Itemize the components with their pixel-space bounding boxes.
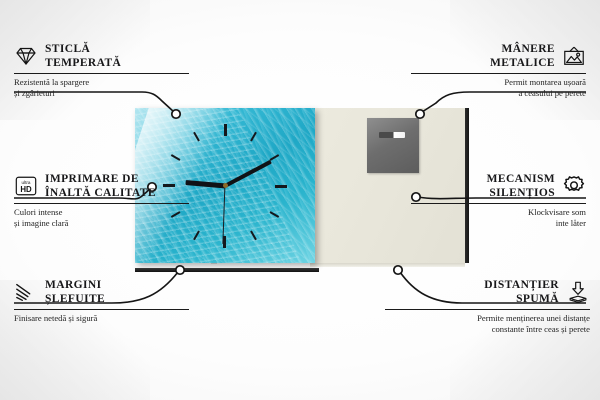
callout-title: MARGINI ȘLEFUITE bbox=[45, 278, 105, 306]
callout-rule bbox=[411, 73, 586, 74]
callout-foam-spacer: DISTANȚIER SPUMĂ Permite menținerea unei… bbox=[385, 278, 590, 336]
callout-description: Permit montarea ușoară a ceasului pe per… bbox=[411, 77, 586, 100]
callout-rule bbox=[14, 73, 189, 74]
gear-icon bbox=[562, 175, 586, 197]
svg-text:HD: HD bbox=[20, 185, 32, 194]
callout-title: STICLĂ TEMPERATĂ bbox=[45, 42, 121, 70]
clock-tick bbox=[225, 185, 287, 187]
callout-rule bbox=[14, 309, 189, 310]
callout-description: Finisare netedă și sigură bbox=[14, 313, 189, 324]
callout-title: DISTANȚIER SPUMĂ bbox=[484, 278, 559, 306]
callout-title: MECANISM SILENȚIOS bbox=[487, 172, 555, 200]
callout-header: MARGINI ȘLEFUITE bbox=[14, 278, 189, 306]
callout-rule bbox=[385, 309, 590, 310]
diamond-icon bbox=[14, 45, 38, 67]
callout-metal-handles: MÂNERE METALICE Permit montarea ușoară a… bbox=[411, 42, 586, 100]
callout-header: ultra HD IMPRIMARE DE ÎNALTĂ CALITATE bbox=[14, 172, 189, 200]
callout-tempered-glass: STICLĂ TEMPERATĂ Rezistentă la spargere … bbox=[14, 42, 189, 100]
callout-header: DISTANȚIER SPUMĂ bbox=[385, 278, 590, 306]
callout-description: Rezistentă la spargere și zgârieturi bbox=[14, 77, 189, 100]
callout-rule bbox=[14, 203, 189, 204]
picture-frame-icon bbox=[562, 45, 586, 67]
callout-description: Culori intense și imagine clară bbox=[14, 207, 189, 230]
clock-tick bbox=[224, 124, 226, 186]
down-arrow-layer-icon bbox=[566, 281, 590, 303]
callout-title: MÂNERE METALICE bbox=[490, 42, 555, 70]
callout-header: STICLĂ TEMPERATĂ bbox=[14, 42, 189, 70]
infographic-canvas: STICLĂ TEMPERATĂ Rezistentă la spargere … bbox=[0, 0, 600, 400]
metal-hanger-plate bbox=[367, 118, 419, 173]
hanger-slot bbox=[379, 132, 405, 138]
callout-title: IMPRIMARE DE ÎNALTĂ CALITATE bbox=[45, 172, 156, 200]
clock-center-cap bbox=[223, 183, 228, 188]
callout-polished-edges: MARGINI ȘLEFUITE Finisare netedă și sigu… bbox=[14, 278, 189, 324]
callout-description: Klockvisare som inte låter bbox=[411, 207, 586, 230]
callout-header: MÂNERE METALICE bbox=[411, 42, 586, 70]
callout-header: MECANISM SILENȚIOS bbox=[411, 172, 586, 200]
callout-rule bbox=[411, 203, 586, 204]
clock-bottom-edge bbox=[135, 268, 319, 272]
diagonal-lines-icon bbox=[14, 281, 38, 303]
callout-high-quality-print: ultra HD IMPRIMARE DE ÎNALTĂ CALITATE Cu… bbox=[14, 172, 189, 230]
callout-description: Permite menținerea unei distanțe constan… bbox=[385, 313, 590, 336]
ultra-hd-icon: ultra HD bbox=[14, 175, 38, 197]
callout-silent-mechanism: MECANISM SILENȚIOS Klockvisare som inte … bbox=[411, 172, 586, 230]
